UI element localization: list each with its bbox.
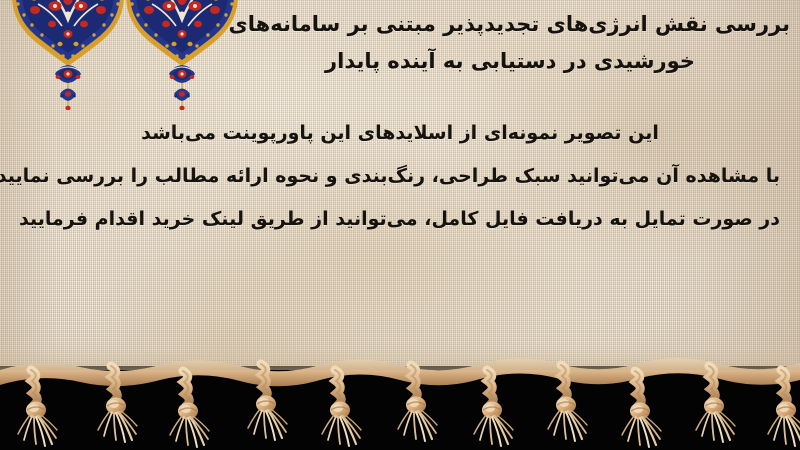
persian-medallion-right	[126, 0, 238, 110]
slide-body-text: این تصویر نمونه‌ای از اسلایدهای این پاور…	[20, 112, 780, 241]
presentation-slide: بررسی نقش انرژی‌های تجدیدپذیر مبتنی بر س…	[0, 0, 800, 450]
body-line-1: این تصویر نمونه‌ای از اسلایدهای این پاور…	[20, 112, 780, 155]
fringe-top-blend	[0, 340, 800, 370]
body-line-2: با مشاهده آن می‌توانید سبک طراحی، رنگ‌بن…	[20, 155, 780, 198]
body-line-3: در صورت تمایل به دریافت فایل کامل، می‌تو…	[20, 198, 780, 241]
persian-medallion-left	[12, 0, 124, 110]
slide-title: بررسی نقش انرژی‌های تجدیدپذیر مبتنی بر س…	[230, 6, 790, 80]
title-line-2: خورشیدی در دستیابی به آینده پایدار	[230, 43, 790, 80]
persian-ornament-group	[0, 0, 240, 110]
title-line-1: بررسی نقش انرژی‌های تجدیدپذیر مبتنی بر س…	[230, 6, 790, 43]
carpet-fringe-border	[0, 340, 800, 450]
